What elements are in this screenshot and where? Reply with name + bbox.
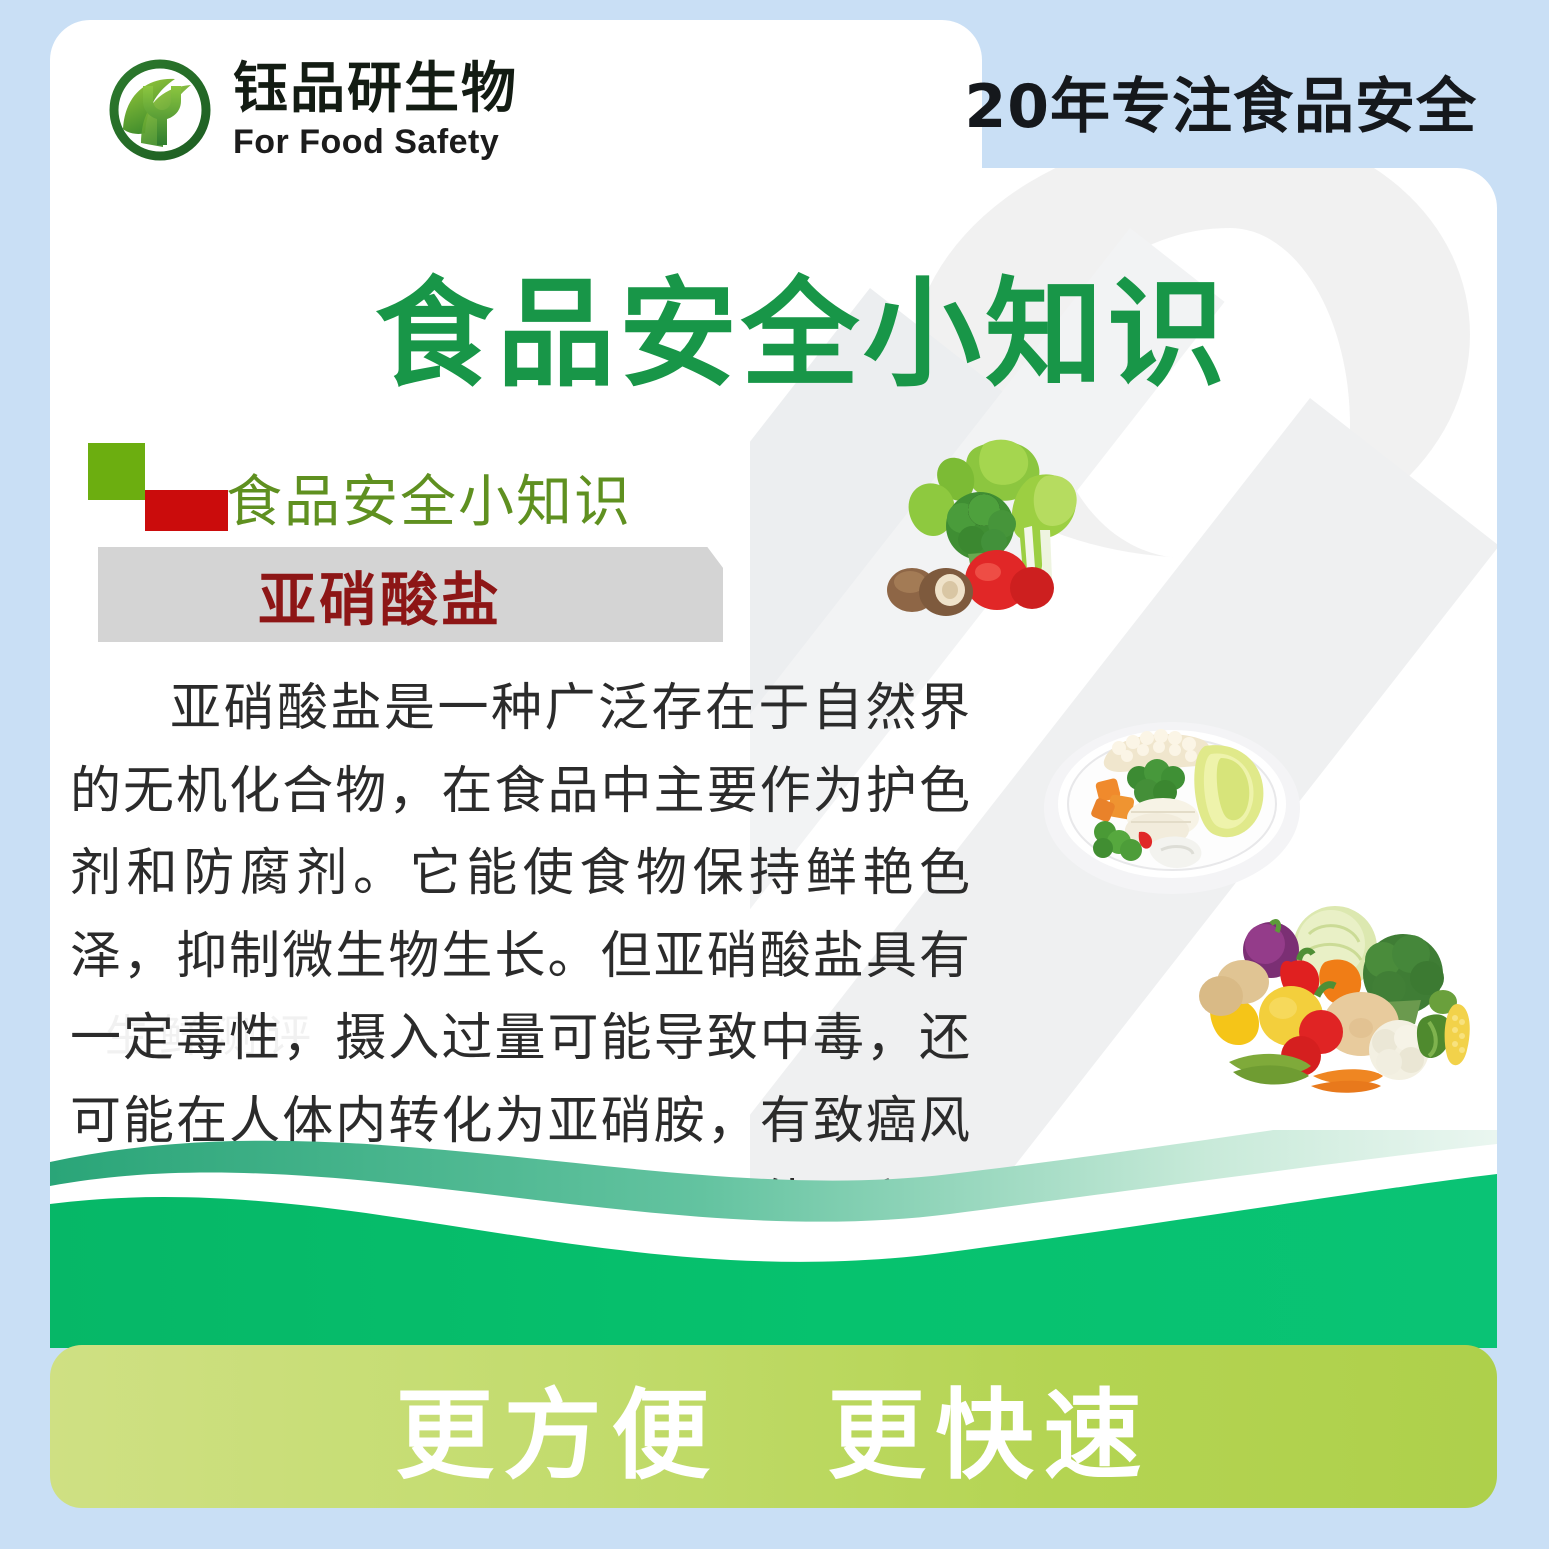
green-square-icon [88,443,145,500]
red-rectangle-icon [145,490,228,531]
brand-logo[interactable]: 钰品研生物 For Food Safety [105,55,518,165]
assorted-produce-photo [1185,890,1485,1105]
leaf-circle-logo-icon [105,55,215,165]
page-title: 食品安全小知识 [375,238,1229,409]
header-tagline: 20年专注食品安全 [965,58,1478,145]
poster-root: 钰品研生物 For Food Safety 20年专注食品安全 食品安全小知识 … [0,0,1549,1549]
vegetable-platter-photo [1035,700,1310,900]
green-wave-decoration [50,1130,1497,1348]
brand-name-en: For Food Safety [233,125,518,159]
brand-name-cn: 钰品研生物 [233,61,518,116]
chapter-banner: 亚硝酸盐 [98,547,723,642]
fresh-vegetables-photo [880,430,1130,630]
footer-banner: 更方便 更快速 [50,1345,1497,1508]
section-label-text: 食品安全小知识 [226,457,632,538]
footer-slogan: 更方便 更快速 [395,1356,1151,1498]
chapter-banner-title: 亚硝酸盐 [258,553,502,637]
section-label: 食品安全小知识 [88,443,632,538]
square-marker-icon [88,443,218,531]
